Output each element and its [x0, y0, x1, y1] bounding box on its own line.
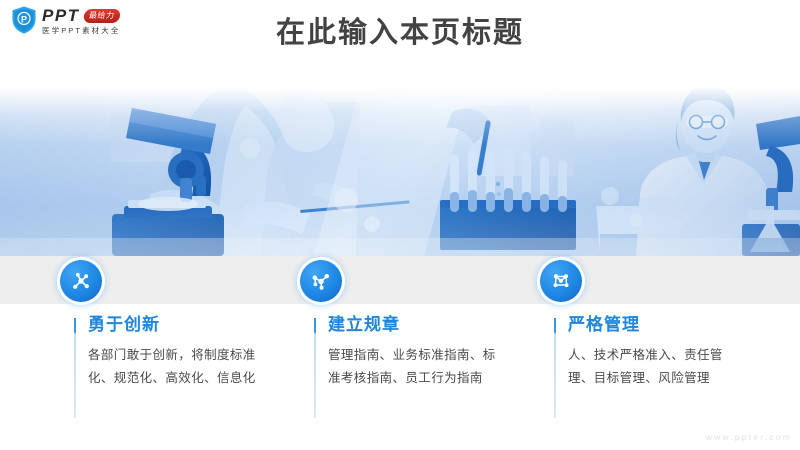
column-heading-2: 建立规章 — [328, 316, 529, 333]
content-columns: 勇于创新 各部门敢于创新，将制度标准化、规范化、高效化、信息化 建立规章 管理指… — [0, 316, 800, 431]
column-accent-rule — [314, 318, 316, 418]
column-accent-rule — [554, 318, 556, 418]
column-body-3: 人、技术严格准入、责任管理、目标管理、风险管理 — [568, 344, 746, 390]
site-watermark: www.ppter.com — [706, 432, 792, 442]
laboratory-scientists-photo — [0, 88, 800, 256]
content-column-1: 勇于创新 各部门敢于创新，将制度标准化、规范化、高效化、信息化 — [74, 316, 289, 390]
icon-strip — [0, 256, 800, 304]
molecule-ring-icon[interactable] — [540, 260, 582, 302]
column-heading-1: 勇于创新 — [88, 316, 289, 333]
banner-image — [0, 88, 800, 256]
column-body-1: 各部门敢于创新，将制度标准化、规范化、高效化、信息化 — [88, 344, 266, 390]
column-body-2: 管理指南、业务标准指南、标准考核指南、员工行为指南 — [328, 344, 506, 390]
molecule-node-icon[interactable] — [60, 260, 102, 302]
column-accent-rule — [74, 318, 76, 418]
content-column-2: 建立规章 管理指南、业务标准指南、标准考核指南、员工行为指南 — [314, 316, 529, 390]
content-column-3: 严格管理 人、技术严格准入、责任管理、目标管理、风险管理 — [554, 316, 769, 390]
column-heading-3: 严格管理 — [568, 316, 769, 333]
molecule-cluster-icon[interactable] — [300, 260, 342, 302]
page-title: 在此输入本页标题 — [0, 18, 800, 50]
